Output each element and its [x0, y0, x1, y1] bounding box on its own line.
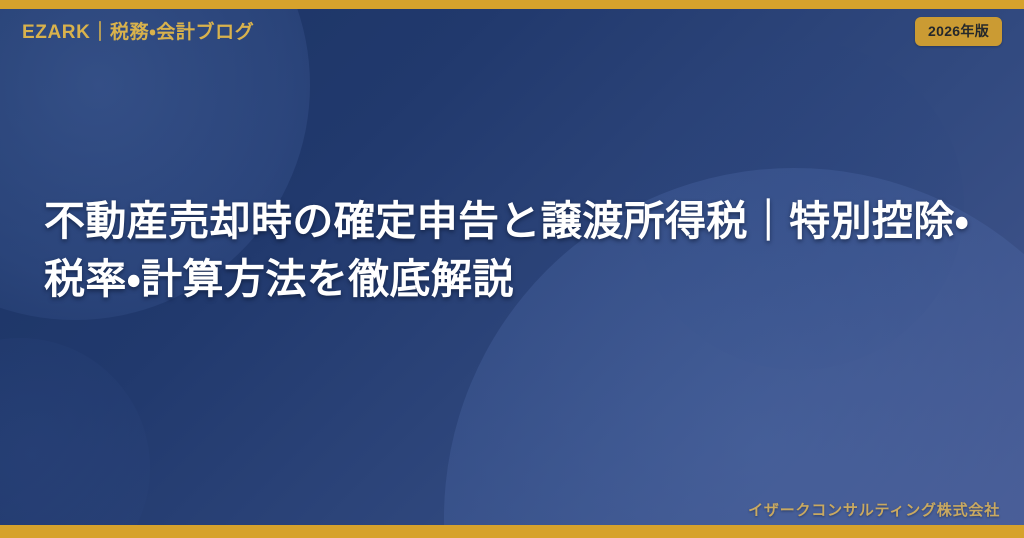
decorative-circle-bottom-left: [0, 338, 150, 538]
header-bar: EZARK｜税務・会計ブログ 2026年版: [0, 9, 1024, 53]
title-block: 不動産売却時の確定申告と譲渡所得税｜特別控除・税率・計算方法を徹底解説: [44, 192, 988, 308]
page-title: 不動産売却時の確定申告と譲渡所得税｜特別控除・税率・計算方法を徹底解説: [44, 192, 988, 308]
top-gold-rule: [0, 0, 1024, 9]
brand-title: EZARK｜税務・会計ブログ: [22, 17, 254, 44]
bottom-gold-rule: [0, 525, 1024, 538]
eyecatch-card: EZARK｜税務・会計ブログ 2026年版 不動産売却時の確定申告と譲渡所得税｜…: [0, 0, 1024, 538]
company-name: イザークコンサルティング株式会社: [748, 499, 1000, 520]
edition-badge: 2026年版: [915, 17, 1002, 46]
